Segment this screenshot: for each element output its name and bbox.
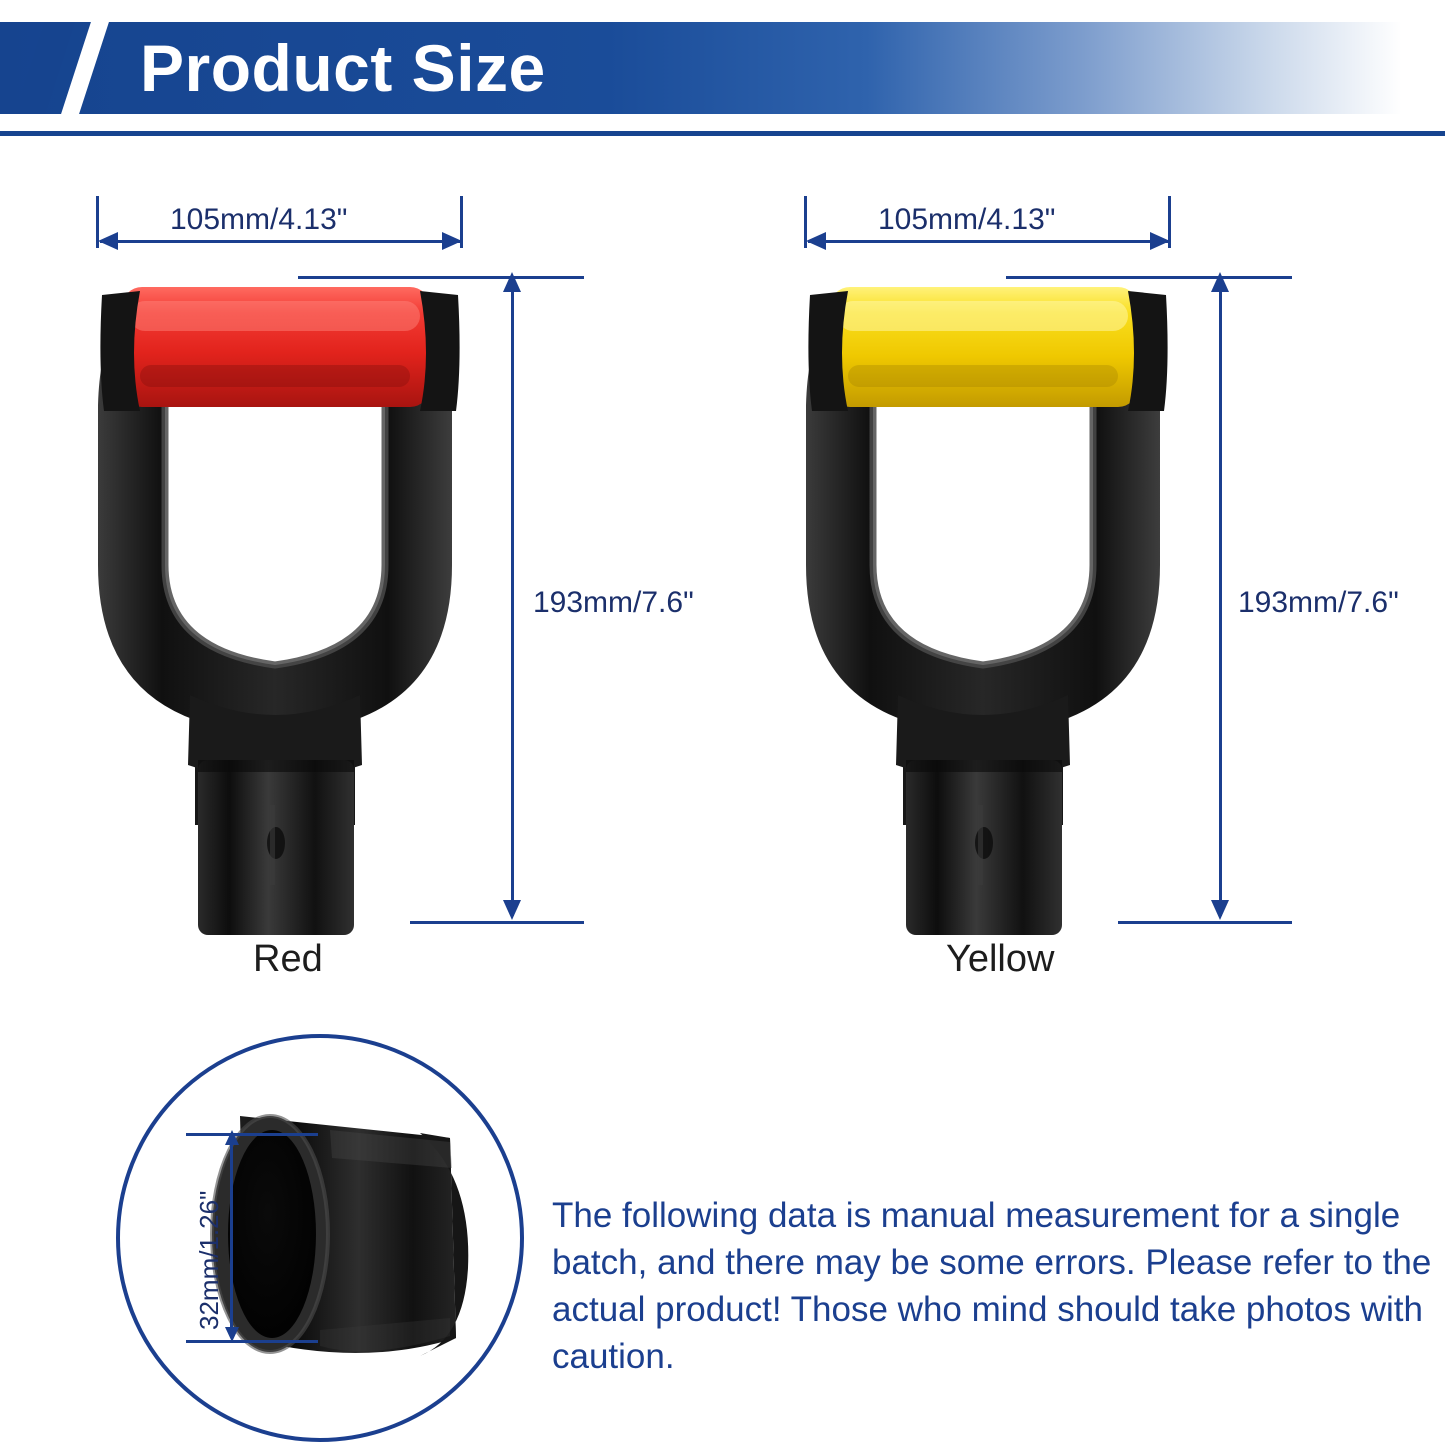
red-height-tick-bottom (410, 921, 584, 924)
yellow-color-label: Yellow (946, 938, 1054, 981)
red-height-arrow-down-icon (503, 900, 521, 920)
detail-tick-bottom (186, 1340, 318, 1343)
red-width-label: 105mm/4.13" (170, 203, 347, 237)
header-banner: Product Size (0, 0, 1445, 136)
red-width-arrow-left-icon (98, 232, 118, 250)
header-underline (0, 131, 1445, 136)
yellow-width-label: 105mm/4.13" (878, 203, 1055, 237)
red-height-line (511, 282, 514, 916)
red-color-label: Red (253, 938, 323, 981)
socket-detail-circle (116, 1034, 524, 1442)
page-title: Product Size (140, 27, 546, 109)
red-width-arrow-right-icon (442, 232, 462, 250)
yellow-handle-illustration (778, 265, 1198, 945)
yellow-height-arrow-up-icon (1211, 272, 1229, 292)
red-width-line (100, 240, 460, 243)
detail-tick-top (186, 1133, 318, 1136)
detail-arrow-down-icon (225, 1327, 239, 1342)
detail-arrow-up-icon (225, 1130, 239, 1145)
red-height-tick-top (298, 276, 584, 279)
yellow-height-label: 193mm/7.6" (1238, 586, 1399, 620)
red-height-arrow-up-icon (503, 272, 521, 292)
yellow-width-arrow-left-icon (806, 232, 826, 250)
red-handle-illustration (70, 265, 490, 945)
measurement-note: The following data is manual measurement… (552, 1192, 1432, 1380)
yellow-height-tick-bottom (1118, 921, 1292, 924)
detail-diameter-line (230, 1139, 233, 1336)
red-height-label: 193mm/7.6" (533, 586, 694, 620)
yellow-width-line (808, 240, 1168, 243)
detail-diameter-label: 32mm/1.26" (195, 1191, 223, 1330)
yellow-height-line (1219, 282, 1222, 916)
yellow-height-arrow-down-icon (1211, 900, 1229, 920)
yellow-width-arrow-right-icon (1150, 232, 1170, 250)
yellow-height-tick-top (1006, 276, 1292, 279)
